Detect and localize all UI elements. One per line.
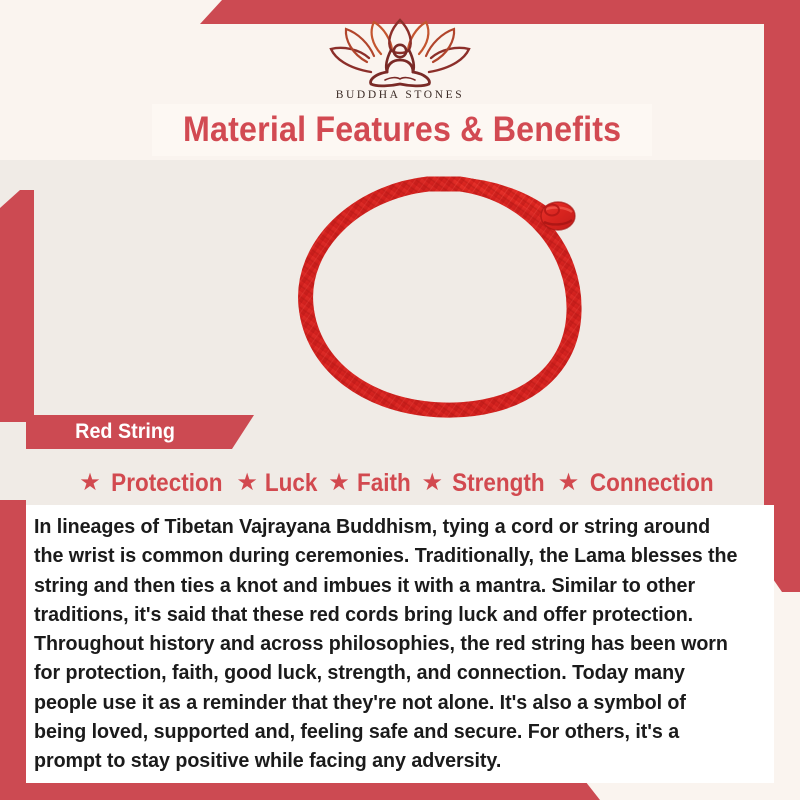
brand-logo: BUDDHA STONES (0, 16, 800, 101)
benefit-label: Faith (357, 469, 411, 498)
page-title: Material Features & Benefits (183, 110, 621, 150)
benefit-label: Protection (111, 469, 222, 498)
title-band: Material Features & Benefits (152, 104, 652, 156)
benefit-item: ★ Luck (236, 469, 320, 498)
benefit-item: ★ Faith (328, 469, 413, 498)
star-icon: ★ (236, 471, 258, 495)
benefit-label: Strength (452, 469, 545, 498)
benefit-item: ★ Strength (421, 469, 549, 498)
lotus-meditation-icon (325, 16, 475, 88)
star-icon: ★ (421, 471, 443, 495)
description-paragraph: In lineages of Tibetan Vajrayana Buddhis… (34, 513, 742, 777)
star-icon: ★ (328, 471, 350, 495)
decorative-bar-left-lower (0, 500, 26, 780)
brand-name: BUDDHA STONES (0, 89, 800, 101)
decorative-bar-left (0, 190, 34, 422)
infographic-page: BUDDHA STONES Material Features & Benefi… (0, 0, 800, 800)
product-photo-red-string-bracelet (160, 160, 640, 422)
product-name-label: Red String (75, 420, 175, 444)
benefits-row: ★ Protection ★ Luck ★ Faith ★ Strength ★… (0, 464, 800, 502)
star-icon: ★ (558, 471, 580, 495)
benefit-label: Luck (265, 469, 318, 498)
benefit-item: ★ Protection (79, 469, 228, 498)
benefit-label: Connection (590, 469, 714, 498)
benefit-item: ★ Connection (558, 469, 721, 498)
description-block: In lineages of Tibetan Vajrayana Buddhis… (26, 505, 774, 783)
star-icon: ★ (79, 471, 101, 495)
product-name-banner: Red String (26, 415, 254, 449)
